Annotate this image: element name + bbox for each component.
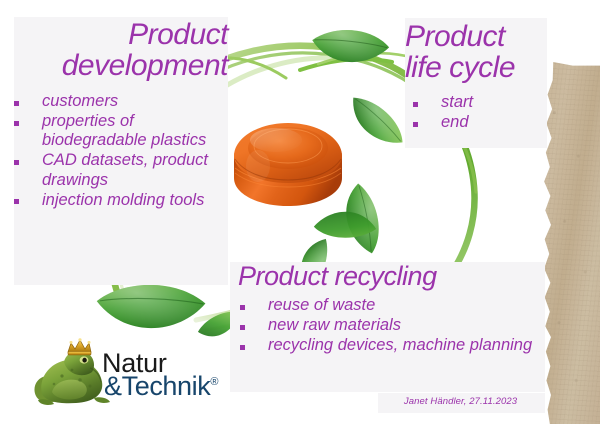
list-item-label: injection molding tools [42,191,204,209]
list-item: recycling devices, machine planning [232,336,550,355]
bullet-square-icon [14,160,19,165]
list-item: reuse of waste [232,296,550,315]
list-item: end [405,113,547,132]
bullet-square-icon [413,102,418,107]
heading-product-development: Product development [14,20,228,81]
list-item: start [405,93,547,112]
list-item-label: recycling devices, machine planning [268,336,532,354]
logo-natur-technik: Natur &Technik® [28,338,238,410]
list-product-life-cycle: start end [405,93,547,133]
list-item: customers [6,92,228,111]
bullet-square-icon [14,199,19,204]
list-item-label: end [441,113,469,131]
list-product-development: customers properties of biodegradable pl… [6,92,228,211]
bullet-square-icon [240,325,245,330]
registered-trademark-icon: ® [210,376,218,388]
list-item: properties of biodegradable plastics [6,112,228,150]
slide-canvas: Product development customers properties… [0,0,600,424]
list-item-label: start [441,93,473,111]
heading-product-recycling: Product recycling [238,263,437,291]
bullet-square-icon [14,101,19,106]
logo-wordmark: Natur &Technik® [102,340,242,408]
logo-technik-text: &Technik [104,371,210,401]
logo-line-technik: &Technik® [104,373,218,400]
list-item-label: properties of biodegradable plastics [42,112,206,149]
list-item: new raw materials [232,316,550,335]
list-item-label: new raw materials [268,316,401,334]
heading-product-life-cycle: Product life cycle [405,22,547,83]
list-item: CAD datasets, product drawings [6,151,228,189]
list-product-recycling: reuse of waste new raw materials recycli… [232,296,550,356]
bullet-square-icon [14,121,19,126]
bullet-square-icon [240,305,245,310]
bullet-square-icon [413,122,418,127]
list-item: injection molding tools [6,191,228,210]
list-item-label: CAD datasets, product drawings [42,151,208,188]
list-item-label: reuse of waste [268,296,375,314]
list-item-label: customers [42,92,118,110]
footer-credit: Janet Händler, 27.11.2023 [378,396,543,407]
